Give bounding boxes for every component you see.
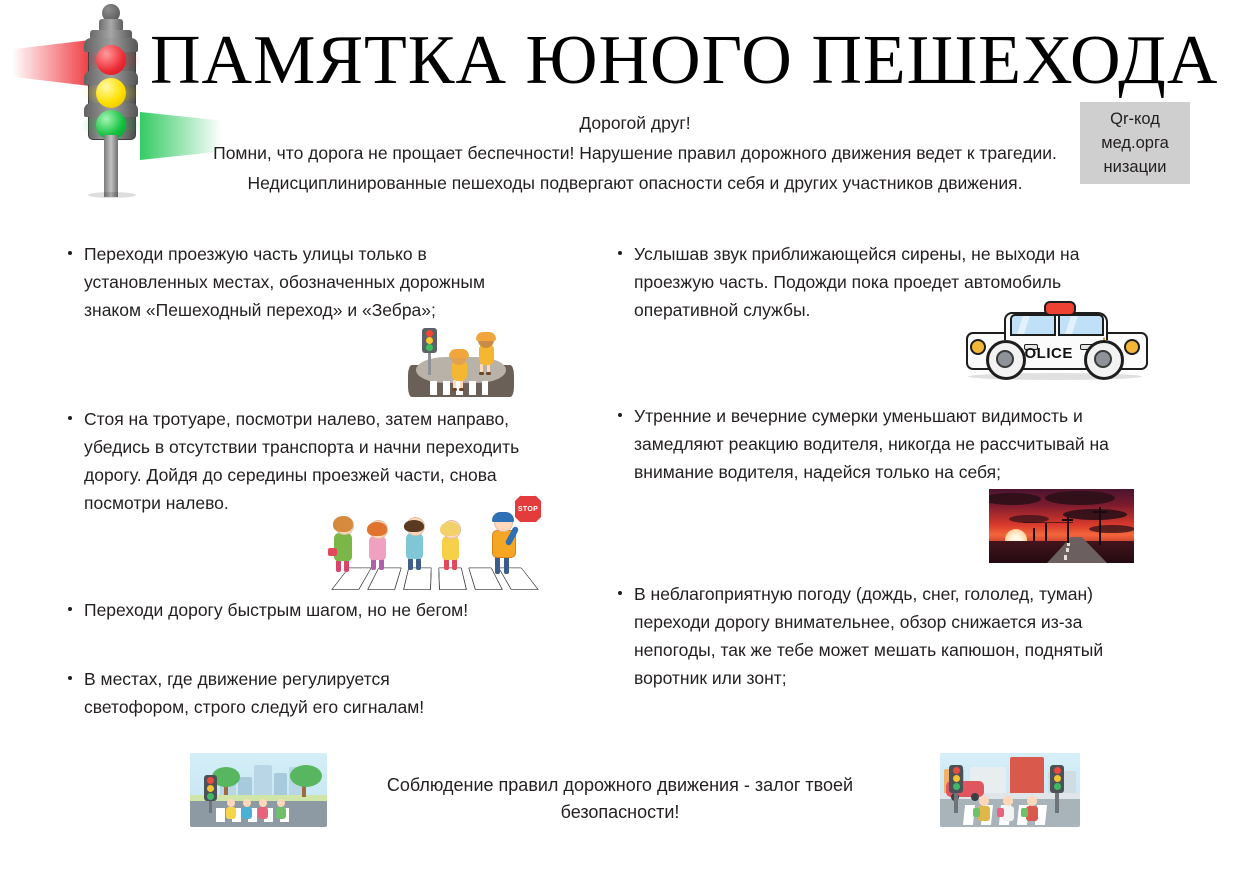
- handbag: [328, 548, 337, 556]
- utility-pole: [1045, 523, 1047, 541]
- girl-figure: [474, 329, 498, 375]
- hair: [440, 522, 460, 536]
- child-figure: [258, 799, 268, 819]
- shoe: [479, 372, 484, 375]
- qr-label-line2: мед.орга: [1101, 131, 1169, 155]
- yellow-lamp: [426, 337, 433, 344]
- building: [1010, 757, 1044, 797]
- police-car-illustration: POLICE: [962, 300, 1148, 382]
- cloud: [1089, 525, 1134, 533]
- adult-figure: [331, 510, 355, 572]
- pole-crossbar: [1093, 511, 1107, 513]
- traffic-light-pole: [104, 135, 118, 197]
- red-lamp: [207, 777, 214, 784]
- yellow-lamp: [1054, 775, 1061, 782]
- footer-slogan: Соблюдение правил дорожного движения - з…: [345, 772, 895, 826]
- city-crosswalk-illustration: [190, 753, 327, 827]
- dress: [479, 345, 494, 365]
- intro-greeting: Дорогой друг!: [205, 108, 1065, 138]
- street-crossing-illustration: [940, 753, 1080, 827]
- road-marking: [1064, 555, 1067, 560]
- child-figure: [276, 799, 286, 819]
- sunset-road-photo: [989, 489, 1134, 563]
- intro-block: Дорогой друг! Помни, что дорога не проща…: [205, 108, 1065, 198]
- building: [254, 765, 272, 799]
- child-figure: [440, 522, 462, 570]
- list-item: В местах, где движение регулируется свет…: [62, 665, 484, 721]
- yellow-lamp: [207, 785, 214, 792]
- list-item: Переходи проезжую часть улицы только в у…: [62, 240, 534, 324]
- stop-sign-icon: STOP: [513, 494, 543, 524]
- traffic-light-icon: [949, 765, 963, 793]
- police-cap: [492, 512, 514, 522]
- taillight: [1124, 339, 1140, 355]
- hat: [449, 349, 469, 358]
- headlight: [970, 339, 986, 355]
- page-title: ПАМЯТКА ЮНОГО ПЕШЕХОДА: [150, 22, 1140, 100]
- coat: [334, 533, 352, 561]
- jacket: [442, 536, 459, 560]
- zebra-stripe: [216, 808, 225, 822]
- child-figure: [1026, 796, 1038, 821]
- hair: [333, 516, 353, 532]
- poster-canvas: ПАМЯТКА ЮНОГО ПЕШЕХОДА Дорогой друг! Пом…: [0, 0, 1240, 874]
- red-light-beam: [12, 40, 90, 86]
- red-lamp: [953, 767, 960, 774]
- yellow-lamp: [96, 78, 126, 108]
- shoe: [486, 372, 491, 375]
- leg: [480, 364, 483, 372]
- jacket: [406, 533, 423, 559]
- car-window: [1058, 314, 1104, 336]
- child-figure: [242, 799, 252, 819]
- child-figure: [367, 522, 389, 570]
- power-line: [1023, 522, 1073, 523]
- yellow-lamp: [953, 775, 960, 782]
- tree-crown: [290, 765, 322, 787]
- traffic-light-pole: [209, 799, 212, 813]
- car-window: [1010, 314, 1056, 336]
- wheel: [986, 340, 1026, 380]
- pole-crossbar: [1062, 519, 1073, 521]
- leg: [487, 364, 490, 372]
- list-item: Переходи дорогу быстрым шагом, но не бег…: [62, 596, 554, 624]
- green-lamp: [953, 783, 960, 790]
- qr-code-placeholder[interactable]: Qr-код мед.орга низации: [1080, 102, 1190, 184]
- green-lamp: [1054, 783, 1061, 790]
- children-crossing-zebra-illustration: STOP: [325, 498, 545, 590]
- child-figure: [226, 799, 236, 819]
- traffic-light-icon: [1050, 765, 1064, 793]
- red-lamp: [1054, 767, 1061, 774]
- child-figure: [978, 796, 990, 821]
- shoe: [452, 388, 457, 391]
- green-lamp: [426, 344, 433, 351]
- traffic-light-icon: [204, 775, 217, 801]
- traffic-light-shadow: [88, 192, 136, 198]
- leg: [453, 380, 456, 388]
- red-lamp: [96, 45, 126, 75]
- girl-figure: [448, 349, 470, 391]
- road-marking: [1067, 543, 1070, 546]
- two-girls-traffic-light-illustration: [408, 327, 514, 397]
- wheel: [1084, 340, 1124, 380]
- qr-label-line3: низации: [1104, 155, 1167, 179]
- small-traffic-light-icon: [422, 328, 437, 353]
- crossing-guard-figure: STOP: [487, 498, 527, 574]
- list-item: В неблагоприятную погоду (дождь, снег, г…: [612, 580, 1124, 692]
- traffic-light-pole: [1055, 791, 1059, 813]
- jacket: [369, 536, 386, 560]
- green-lamp: [207, 793, 214, 800]
- traffic-light-pole: [954, 791, 958, 813]
- child-figure: [1002, 796, 1014, 821]
- child-figure: [403, 518, 427, 570]
- list-item: Утренние и вечерние сумерки уменьшают ви…: [612, 402, 1154, 486]
- hat: [476, 332, 496, 341]
- leg: [460, 380, 463, 388]
- shoe: [459, 388, 464, 391]
- qr-label-line1: Qr-код: [1110, 107, 1160, 131]
- intro-text: Помни, что дорога не прощает беспечности…: [213, 143, 1057, 193]
- red-lamp: [426, 330, 433, 337]
- siren-light-icon: [1044, 301, 1076, 316]
- hair: [367, 522, 387, 536]
- road-marking: [1066, 548, 1069, 552]
- utility-pole: [1033, 528, 1035, 541]
- hair: [404, 520, 424, 532]
- cloud: [1045, 491, 1115, 505]
